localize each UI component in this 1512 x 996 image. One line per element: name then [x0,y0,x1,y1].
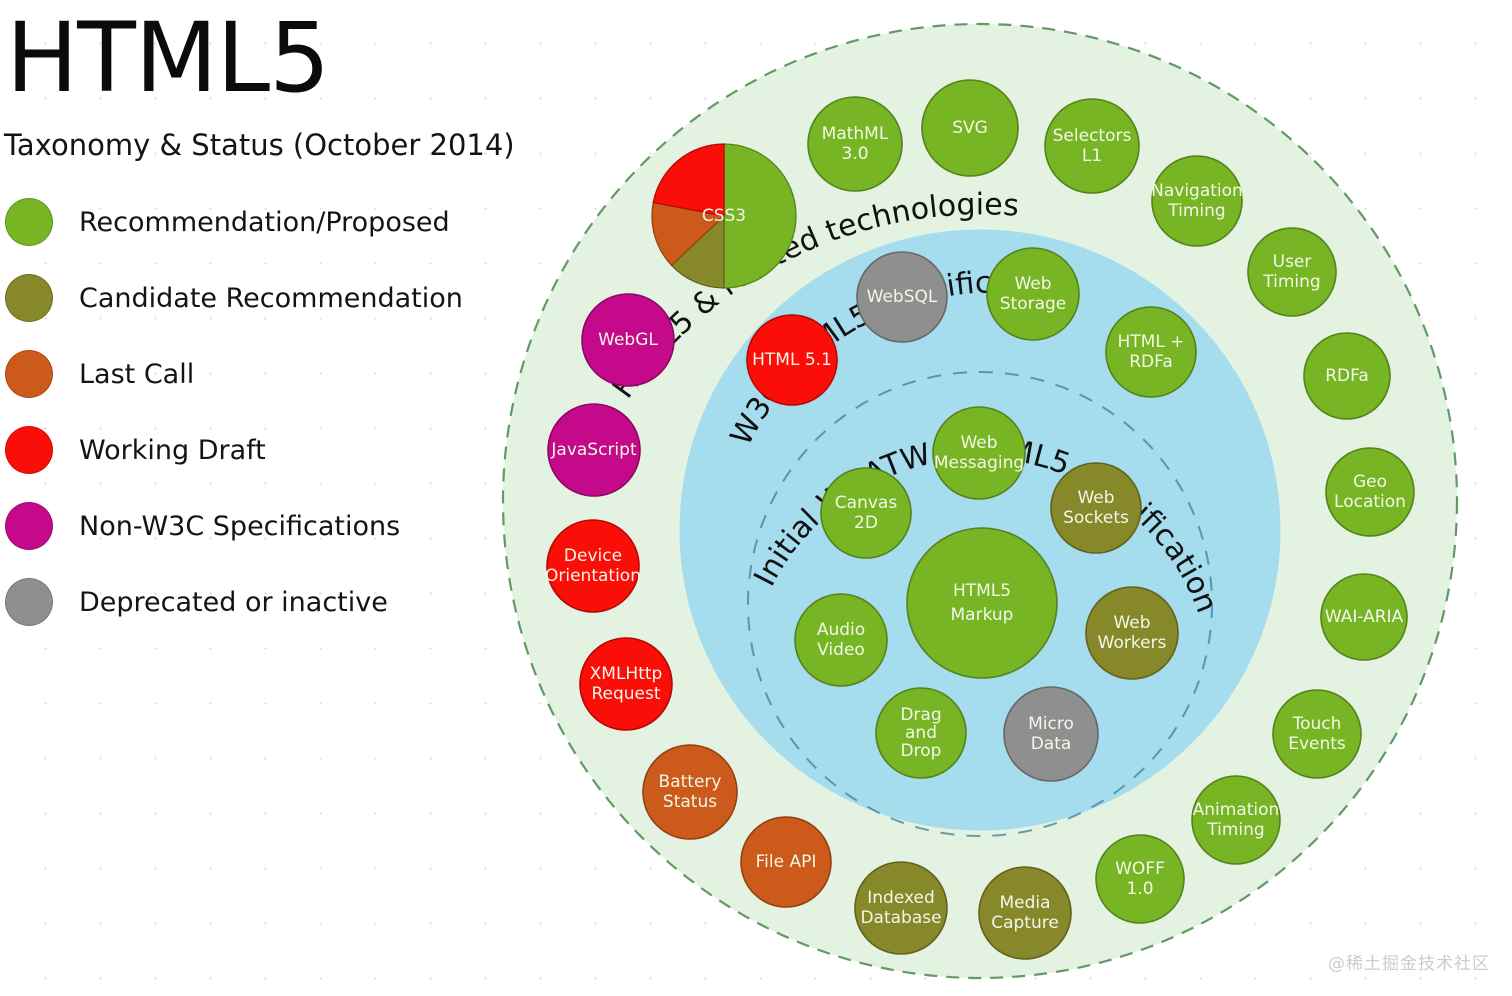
legend-row: Candidate Recommendation [0,260,560,336]
legend-label: Candidate Recommendation [79,283,463,314]
legend-label: Non-W3C Specifications [79,511,400,542]
bubble-label: MediaCapture [991,893,1059,933]
bubble-mathml-3-0[interactable]: MathML3.0 [808,97,902,191]
legend-label: Deprecated or inactive [79,587,388,618]
bubble-animation-timing[interactable]: AnimationTiming [1192,776,1280,864]
bubble-woff-1-0[interactable]: WOFF1.0 [1096,835,1184,923]
bubble-web-workers[interactable]: WebWorkers [1086,587,1178,679]
bubble-web-messaging[interactable]: WebMessaging [933,407,1025,499]
watermark: @稀土掘金技术社区 [1328,949,1490,974]
bubble-audio-video[interactable]: AudioVideo [795,594,887,686]
legend-swatch-candidate [5,274,53,322]
bubble-label: WebSQL [867,287,938,307]
bubble-user-timing[interactable]: UserTiming [1248,228,1336,316]
bubble-javascript[interactable]: JavaScript [548,404,640,496]
page-subtitle: Taxonomy & Status (October 2014) [4,128,560,162]
bubble-canvas-2d[interactable]: Canvas2D [821,468,911,558]
bubble-file-api[interactable]: File API [741,817,831,907]
bubble-label: JavaScript [550,440,637,460]
bubble-label: XMLHttpRequest [590,664,663,704]
bubble-micro-data[interactable]: MicroData [1004,687,1098,781]
bubble-label: CSS3 [702,206,746,226]
bubble-xmlhttp-request[interactable]: XMLHttpRequest [580,638,672,730]
bubble-media-capture[interactable]: MediaCapture [979,867,1071,959]
bubble-html-5-1[interactable]: HTML 5.1 [747,315,837,405]
bubble-svg[interactable]: SVG [922,80,1018,176]
bubble-navigation-timing[interactable]: NavigationTiming [1151,156,1243,246]
legend-swatch-working-draft [5,426,53,474]
bubble-html5-markup[interactable]: HTML5Markup [907,528,1057,678]
bubble-label: HTML 5.1 [752,350,832,370]
legend-label: Working Draft [79,435,266,466]
legend-row: Working Draft [0,412,560,488]
bubble-label: IndexedDatabase [860,888,941,928]
legend-label: Recommendation/Proposed [79,207,450,238]
bubble-selectors-l1[interactable]: SelectorsL1 [1045,99,1139,193]
bubble-label: RDFa [1325,366,1369,386]
bubble-wai-aria[interactable]: WAI-ARIA [1321,574,1407,660]
bubble-battery-status[interactable]: BatteryStatus [643,745,737,839]
bubble-web-storage[interactable]: WebStorage [987,248,1079,340]
bubble-rdfa[interactable]: RDFa [1304,333,1390,419]
legend-label: Last Call [79,359,194,390]
legend-row: Recommendation/Proposed [0,184,560,260]
bubble-label: MicroData [1028,714,1074,754]
bubble-label: SVG [952,118,988,138]
bubble-label: WAI-ARIA [1325,607,1404,627]
page-title: HTML5 [6,10,560,106]
legend-swatch-deprecated [5,578,53,626]
bubble-label: AudioVideo [817,620,865,660]
bubble-drag-and-drop[interactable]: DragandDrop [876,688,966,778]
bubble-websql[interactable]: WebSQL [857,252,947,342]
legend-panel: HTML5 Taxonomy & Status (October 2014) R… [0,0,560,640]
bubble-label: BatteryStatus [659,772,722,812]
legend-row: Non-W3C Specifications [0,488,560,564]
bubble-circle [907,528,1057,678]
bubble-html-rdfa[interactable]: HTML +RDFa [1106,307,1196,397]
bubble-webgl[interactable]: WebGL [582,294,674,386]
bubble-label: TouchEvents [1288,714,1346,754]
legend-row: Deprecated or inactive [0,564,560,640]
legend-swatch-non-w3c [5,502,53,550]
bubble-web-sockets[interactable]: WebSockets [1051,463,1141,553]
bubble-indexed-database[interactable]: IndexedDatabase [855,862,947,954]
bubble-css3[interactable]: CSS3 [652,144,796,288]
legend-swatch-recommendation [5,198,53,246]
bubble-geo-location[interactable]: GeoLocation [1326,448,1414,536]
bubble-label: DragandDrop [900,705,941,761]
bubble-label: WebGL [598,330,658,350]
bubble-label: File API [756,852,817,872]
bubble-touch-events[interactable]: TouchEvents [1273,690,1361,778]
legend-swatch-last-call [5,350,53,398]
legend-list: Recommendation/ProposedCandidate Recomme… [0,184,560,640]
legend-row: Last Call [0,336,560,412]
